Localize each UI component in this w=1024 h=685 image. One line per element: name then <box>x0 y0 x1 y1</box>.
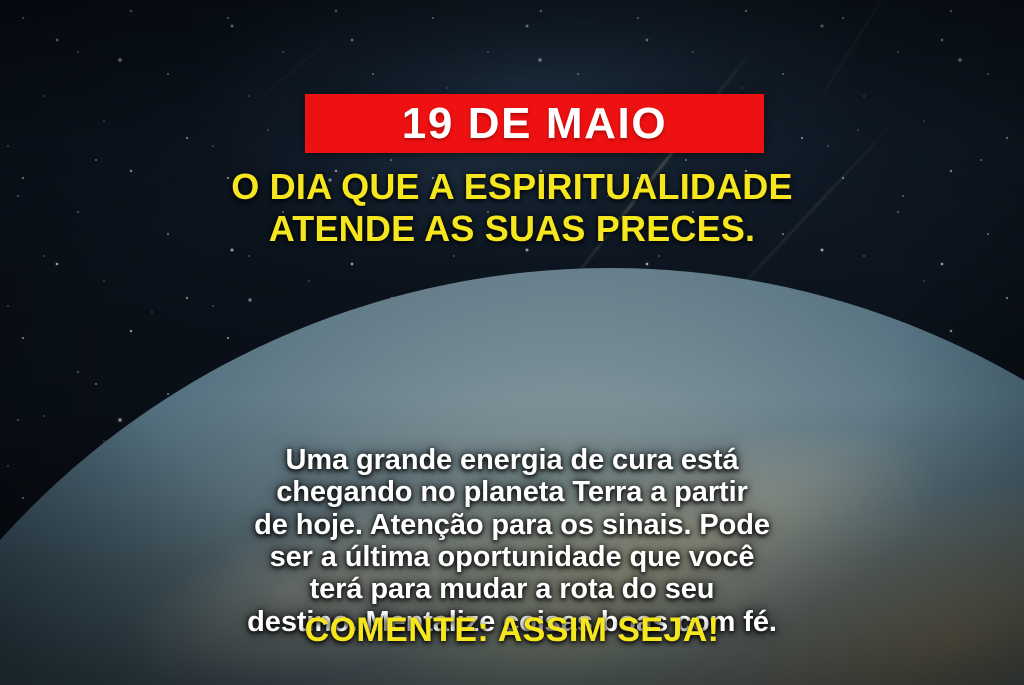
date-banner: 19 DE MAIO <box>305 94 764 153</box>
body-line-5: terá para mudar a rota do seu <box>62 573 962 605</box>
poster-content: 19 DE MAIO O DIA QUE A ESPIRITUALIDADE A… <box>0 0 1024 685</box>
body-line-4: ser a última oportunidade que você <box>62 541 962 573</box>
headline-line-2: ATENDE AS SUAS PRECES. <box>12 208 1012 250</box>
poster-canvas: 19 DE MAIO O DIA QUE A ESPIRITUALIDADE A… <box>0 0 1024 685</box>
date-banner-label: 19 DE MAIO <box>402 102 667 146</box>
headline: O DIA QUE A ESPIRITUALIDADE ATENDE AS SU… <box>12 166 1012 250</box>
headline-line-1: O DIA QUE A ESPIRITUALIDADE <box>12 166 1012 208</box>
call-to-action-label: COMENTE: ASSIM SEJA! <box>22 612 1002 649</box>
body-line-3: de hoje. Atenção para os sinais. Pode <box>62 509 962 541</box>
body-line-1: Uma grande energia de cura está <box>62 444 962 476</box>
body-paragraph: Uma grande energia de cura está chegando… <box>62 444 962 638</box>
body-line-2: chegando no planeta Terra a partir <box>62 476 962 508</box>
